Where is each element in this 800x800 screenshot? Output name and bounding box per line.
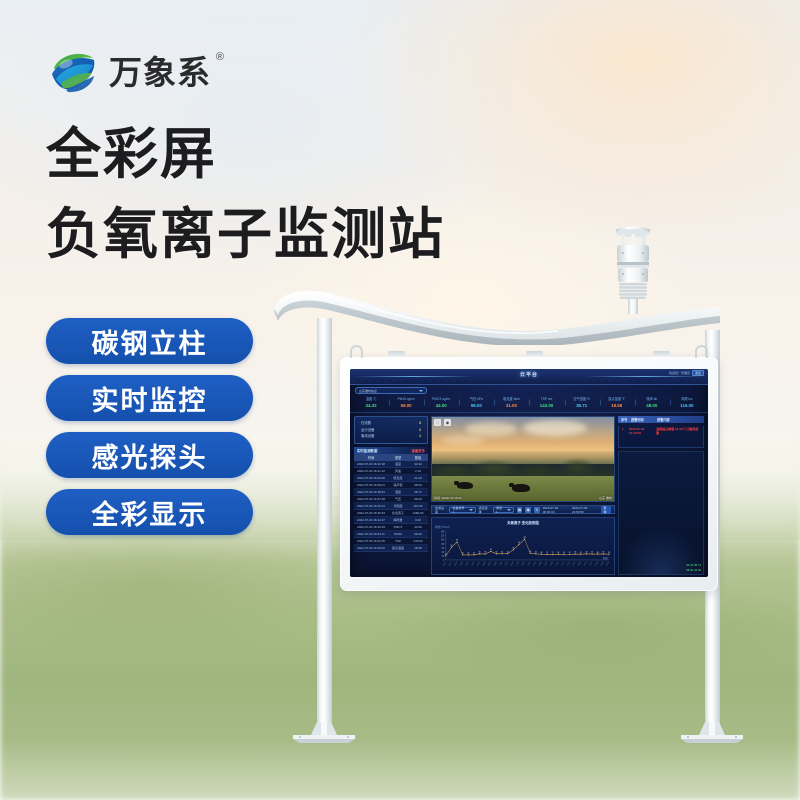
table-cell: 风速 xyxy=(388,469,408,473)
svg-text:07-12: 07-12 xyxy=(561,561,564,566)
svg-text:07-18: 07-18 xyxy=(595,561,598,566)
feature-badge: 感光探头 xyxy=(46,432,253,478)
svg-text:285: 285 xyxy=(580,552,582,554)
table-column-header: 类型 xyxy=(388,455,408,460)
table-cell: 2022-07-03 16:35:33 xyxy=(354,511,388,515)
brand-name-text: 万象系 xyxy=(109,54,211,91)
svg-text:300: 300 xyxy=(479,551,481,553)
svg-text:0: 0 xyxy=(443,560,444,562)
svg-text:300: 300 xyxy=(496,551,498,553)
table-cell: 能见度 xyxy=(388,476,408,480)
table-cell: 0.00 xyxy=(408,518,428,522)
table-cell: 2022-07-03 16:39:01 xyxy=(354,483,388,487)
metric-card: 噪声 db48.00 xyxy=(635,396,669,409)
svg-text:500: 500 xyxy=(512,547,514,549)
metric-card: PM10 ug/m³58.00 xyxy=(389,396,423,409)
table-cell: 58.00 xyxy=(408,532,428,536)
mount-tab-right xyxy=(653,351,670,357)
table-row: 2022-07-03 16:36:41光照度116.00 xyxy=(354,503,428,510)
metric-value: 18.58 xyxy=(600,402,634,409)
table-cell: 2022-07-03 16:32:11 xyxy=(354,532,388,536)
dashboard-screen: 云平台 欢迎您！管理员 退出 山东潍坊站点 温度 ℃34.32PM10 ug/m… xyxy=(350,369,708,577)
svg-text:06-25: 06-25 xyxy=(466,561,469,566)
table-cell: PM10 xyxy=(388,532,408,536)
center-column: ⛶ ◉ 时间: 2022/7/3 16:42 山东 潍坊 监测设备 设备编号 1… xyxy=(431,416,615,575)
svg-text:620: 620 xyxy=(451,545,453,547)
device-select-value: 设备编号 1 xyxy=(452,506,465,514)
display-monitor: 云平台 欢迎您！管理员 退出 山东潍坊站点 温度 ℃34.32PM10 ug/m… xyxy=(340,357,718,591)
metric-value: 38.71 xyxy=(565,402,599,409)
chevron-down-icon xyxy=(507,509,511,511)
realtime-data-title: 实时监测数据 xyxy=(357,448,377,453)
svg-text:07-10: 07-10 xyxy=(550,561,553,566)
alarm-content: 温度超过阈值 34.32℃ 已触发报警 xyxy=(656,427,700,435)
table-row: 2022-07-03 16:40:06能见度31.00 xyxy=(354,475,428,482)
metric-value: 48.00 xyxy=(635,402,669,409)
table-cell: 负氧离子 xyxy=(388,511,408,515)
pole-base-right xyxy=(679,722,745,744)
svg-text:250: 250 xyxy=(462,552,464,554)
fullscreen-icon[interactable]: ⛶ xyxy=(434,419,441,426)
realtime-data-title-bar: 实时监测数据 查看更多 xyxy=(354,447,428,454)
mini-readout-line: 58.00 44.00 xyxy=(686,568,701,572)
table-cell: 露点温度 xyxy=(388,546,408,550)
right-column: 序号报警时间报警内容 12022-07-03 15:12:08温度超过阈值 34… xyxy=(618,416,704,575)
svg-text:292: 292 xyxy=(591,551,593,553)
alarm-index: 1 xyxy=(622,427,627,435)
svg-text:07-11: 07-11 xyxy=(556,561,559,566)
registered-mark: ® xyxy=(216,52,225,63)
svg-text:06-28: 06-28 xyxy=(483,561,486,566)
feature-badge: 实时监控 xyxy=(46,375,253,421)
table-cell: 2022-07-03 16:41:12 xyxy=(354,469,388,473)
svg-text:07-16: 07-16 xyxy=(584,561,587,566)
metric-value: 116.00 xyxy=(670,402,704,409)
table-cell: 湿度 xyxy=(388,490,408,494)
metric-card: 气压 kPa98.00 xyxy=(459,396,493,409)
metrics-strip: 温度 ℃34.32PM10 ug/m³58.00PM2.5 ug/m³44.00… xyxy=(350,396,708,413)
trend-chart-panel: 负氧离子 变化趋势图 单位(个/cm³) 0200400600800100012… xyxy=(431,517,615,575)
table-cell: 2022-07-03 16:31:05 xyxy=(354,539,388,543)
svg-text:210: 210 xyxy=(445,553,447,555)
table-cell: 降雨量 xyxy=(388,518,408,522)
metric-value: 31.00 xyxy=(494,402,528,409)
svg-text:296: 296 xyxy=(602,551,604,553)
video-timestamp: 时间: 2022/7/3 16:42 xyxy=(434,496,462,500)
svg-text:07-20: 07-20 xyxy=(606,561,609,566)
alarm-list: 12022-07-03 15:12:08温度超过阈值 34.32℃ 已触发报警 xyxy=(618,426,704,448)
table-cell: 2022-07-03 16:42:18 xyxy=(354,462,388,466)
metric-card: PM2.5 ug/m³44.00 xyxy=(424,396,458,409)
mount-hook-right xyxy=(695,345,708,358)
table-cell: 143.00 xyxy=(408,539,428,543)
svg-text:07-05: 07-05 xyxy=(522,561,525,566)
svg-text:06-23: 06-23 xyxy=(454,561,457,566)
svg-text:07-03: 07-03 xyxy=(511,561,514,566)
svg-text:07-01: 07-01 xyxy=(499,561,502,566)
station-select-row: 山东潍坊站点 xyxy=(350,385,708,396)
support-pole-left xyxy=(317,318,332,726)
pole-base-left xyxy=(291,722,357,744)
svg-text:290: 290 xyxy=(574,552,576,554)
table-row: 2022-07-03 16:42:18温度34.32 xyxy=(354,461,428,468)
svg-text:06-29: 06-29 xyxy=(488,561,491,566)
table-cell: 44.00 xyxy=(408,525,428,529)
headline-line-2: 负氧离子监测站 xyxy=(46,207,445,262)
table-cell: 116.00 xyxy=(408,504,428,508)
brand-name: 万象系 ® xyxy=(109,56,211,89)
table-cell: TSP xyxy=(388,539,408,543)
table-cell: PM2.5 xyxy=(388,525,408,529)
dashboard-title: 云平台 xyxy=(350,371,708,378)
table-cell: 34.32 xyxy=(408,462,428,466)
date-end[interactable]: 2022-07-03 23:59:59 xyxy=(572,506,598,514)
svg-text:07-06: 07-06 xyxy=(528,561,531,566)
metric-value: 34.32 xyxy=(354,402,388,409)
video-cow xyxy=(512,484,530,492)
metric-card: 能见度 dkm31.00 xyxy=(494,396,528,409)
svg-text:268: 268 xyxy=(563,552,565,554)
table-cell: 光照度 xyxy=(388,504,408,508)
table-cell: 2022-07-03 16:33:19 xyxy=(354,525,388,529)
svg-text:07-07: 07-07 xyxy=(533,561,536,566)
dashboard-body: 在线数3运行设备2离线设备1 实时监测数据 查看更多 时间类型数值 2022-0… xyxy=(350,413,708,577)
svg-text:06-26: 06-26 xyxy=(471,561,474,566)
table-cell: 噪声值 xyxy=(388,483,408,487)
svg-text:800: 800 xyxy=(442,544,445,546)
svg-text:负氧离子: 负氧离子 xyxy=(603,555,609,560)
svg-text:07-02: 07-02 xyxy=(505,561,508,566)
svg-text:1400: 1400 xyxy=(441,531,445,533)
secondary-video-feed[interactable]: 34.32 38.71 58.00 44.00 xyxy=(618,451,704,575)
metric-value: 58.00 xyxy=(389,402,423,409)
device-stats-box: 在线数3运行设备2离线设备1 xyxy=(354,416,428,444)
metric-value: 143.00 xyxy=(529,402,563,409)
table-cell: 2022-07-03 16:38:54 xyxy=(354,490,388,494)
station-select[interactable]: 山东潍坊站点 xyxy=(355,387,427,394)
table-cell: 气压 xyxy=(388,497,408,501)
svg-text:310: 310 xyxy=(507,551,509,553)
table-cell: 温度 xyxy=(388,462,408,466)
metric-card: TSP um143.00 xyxy=(529,396,563,409)
realtime-data-header: 时间类型数值 xyxy=(354,454,428,461)
station-select-value: 山东潍坊站点 xyxy=(359,389,377,393)
table-cell: 38.71 xyxy=(408,490,428,494)
table-cell: 2022-07-03 16:34:27 xyxy=(354,518,388,522)
svg-text:255: 255 xyxy=(473,552,475,554)
metric-value: 44.00 xyxy=(424,402,458,409)
realtime-data-rows: 2022-07-03 16:42:18温度34.322022-07-03 16:… xyxy=(354,461,428,576)
bottom-fade xyxy=(0,740,800,800)
svg-text:274: 274 xyxy=(569,552,571,554)
logout-button[interactable]: 退出 xyxy=(692,370,704,376)
svg-text:07-15: 07-15 xyxy=(578,561,581,566)
feature-badge: 全彩显示 xyxy=(46,489,253,535)
device-stat-value: 1 xyxy=(419,433,421,440)
table-row: 2022-07-03 16:34:27降雨量0.00 xyxy=(354,517,428,524)
grid-view-icon[interactable]: ▦ xyxy=(517,507,523,513)
video-cloud xyxy=(465,422,517,436)
table-row: 2022-07-03 16:33:19PM2.544.00 xyxy=(354,524,428,531)
mini-readout-line: 34.32 38.71 xyxy=(686,563,701,567)
svg-text:06-24: 06-24 xyxy=(460,561,463,566)
chevron-down-icon xyxy=(469,509,473,511)
feature-badge-list: 碳钢立柱 实时监控 感光探头 全彩显示 xyxy=(46,318,253,535)
table-row: 2022-07-03 16:41:12风速2.10 xyxy=(354,468,428,475)
svg-text:330: 330 xyxy=(529,551,531,553)
table-cell: 2022-07-03 16:36:41 xyxy=(354,504,388,508)
svg-text:275: 275 xyxy=(546,552,548,554)
table-row: 2022-07-03 16:32:11PM1058.00 xyxy=(354,531,428,538)
svg-text:07-14: 07-14 xyxy=(573,561,576,566)
channel-select[interactable]: 通道 1 xyxy=(493,507,514,513)
table-cell: 2.10 xyxy=(408,469,428,473)
table-row: 2022-07-03 16:39:01噪声值48.00 xyxy=(354,482,428,489)
svg-text:760: 760 xyxy=(518,542,520,544)
snapshot-icon[interactable]: ◉ xyxy=(444,419,451,426)
svg-text:1200: 1200 xyxy=(441,535,445,537)
device-select-label: 监测设备 xyxy=(435,506,446,514)
dashboard-header: 云平台 欢迎您！管理员 退出 xyxy=(350,369,708,385)
header-account-area: 欢迎您！管理员 退出 xyxy=(669,370,704,376)
feature-badge: 碳钢立柱 xyxy=(46,318,253,364)
video-cow xyxy=(457,482,473,489)
svg-text:288: 288 xyxy=(597,552,599,554)
svg-text:280: 280 xyxy=(541,552,543,554)
trend-chart-svg: 0200400600800100012001400210620880250245… xyxy=(435,526,611,572)
table-row: 2022-07-03 16:35:33负氧离子1280.00 xyxy=(354,510,428,517)
metric-card: 露点温度 ℃18.58 xyxy=(600,396,634,409)
headline-line-1: 全彩屏 xyxy=(46,127,217,182)
svg-text:06-27: 06-27 xyxy=(477,561,480,566)
svg-text:07-04: 07-04 xyxy=(516,561,519,566)
svg-text:06-30: 06-30 xyxy=(494,561,497,566)
chart-ylabel: 单位(个/cm³) xyxy=(435,525,450,529)
svg-text:06-22: 06-22 xyxy=(449,561,452,566)
table-column-header: 数值 xyxy=(408,455,428,460)
left-column: 在线数3运行设备2离线设备1 实时监测数据 查看更多 时间类型数值 2022-0… xyxy=(354,416,428,575)
svg-text:07-17: 07-17 xyxy=(590,561,593,566)
realtime-data-panel: 实时监测数据 查看更多 时间类型数值 2022-07-03 16:42:18温度… xyxy=(354,447,428,576)
chevron-down-icon xyxy=(419,390,423,392)
svg-text:1020: 1020 xyxy=(523,537,526,539)
alarm-time: 2022-07-03 15:12:08 xyxy=(629,427,654,435)
camera-icon[interactable]: ▣ xyxy=(525,507,531,513)
svg-text:880: 880 xyxy=(456,540,458,542)
svg-text:270: 270 xyxy=(552,552,554,554)
svg-text:07-19: 07-19 xyxy=(601,561,604,566)
refresh-icon[interactable]: ↻ xyxy=(534,507,540,513)
video-tool-buttons[interactable]: ⛶ ◉ xyxy=(434,419,451,426)
account-label: 欢迎您！管理员 xyxy=(669,371,690,375)
svg-text:200: 200 xyxy=(442,556,445,558)
video-scene xyxy=(432,417,614,501)
svg-text:300: 300 xyxy=(586,551,588,553)
device-select[interactable]: 设备编号 1 xyxy=(449,507,475,513)
table-cell: 2022-07-03 16:37:48 xyxy=(354,497,388,501)
device-stat-row: 离线设备1 xyxy=(361,433,421,440)
alarm-column-header: 报警内容 xyxy=(657,417,670,422)
svg-text:600: 600 xyxy=(442,548,445,550)
table-cell: 2022-07-03 16:30:02 xyxy=(354,546,388,550)
ultrasonic-weather-sensor-icon xyxy=(600,222,666,314)
globe-sphere-icon xyxy=(48,46,100,98)
svg-text:07-09: 07-09 xyxy=(545,561,548,566)
brand-logo: 万象系 ® xyxy=(48,46,211,98)
table-cell: 31.00 xyxy=(408,476,428,480)
mount-tab-left xyxy=(388,351,405,357)
date-start[interactable]: 2022-07-03 00:00:00 xyxy=(543,506,569,514)
alarm-panel-header: 序号报警时间报警内容 xyxy=(618,416,704,423)
video-control-bar: 监测设备 设备编号 1 通道选择 通道 1 ▦ ▣ ↻ 20 xyxy=(431,505,615,514)
svg-text:280: 280 xyxy=(608,552,610,554)
view-more-link[interactable]: 查看更多 xyxy=(411,448,425,453)
table-cell: 48.00 xyxy=(408,483,428,487)
metric-card: 风照 lux116.00 xyxy=(670,396,704,409)
table-row: 2022-07-03 16:30:02露点温度18.58 xyxy=(354,545,428,552)
svg-text:07-08: 07-08 xyxy=(539,561,542,566)
query-button[interactable]: 查询 xyxy=(601,506,611,514)
video-cloud xyxy=(523,420,587,436)
mount-hook-left xyxy=(350,345,363,358)
mini-readout: 34.32 38.71 58.00 44.00 xyxy=(686,563,701,572)
table-row: 2022-07-03 16:37:48气压98.00 xyxy=(354,496,428,503)
metric-value: 98.00 xyxy=(459,402,493,409)
device-stat-label: 离线设备 xyxy=(361,433,375,440)
alarm-column-header: 报警时间 xyxy=(631,417,655,422)
table-cell: 2022-07-03 16:40:06 xyxy=(354,476,388,480)
table-cell: 1280.00 xyxy=(408,511,428,515)
metric-card: 温度 ℃34.32 xyxy=(354,396,388,409)
svg-text:1000: 1000 xyxy=(441,540,445,542)
table-cell: 18.58 xyxy=(408,546,428,550)
svg-text:300: 300 xyxy=(535,551,537,553)
product-marketing-banner: 万象系 ® 全彩屏 负氧离子监测站 碳钢立柱 实时监控 感光探头 全彩显示 xyxy=(0,0,800,800)
table-row: 2022-07-03 16:38:54湿度38.71 xyxy=(354,489,428,496)
svg-text:420: 420 xyxy=(490,549,492,551)
metric-card: 空气湿度 %38.71 xyxy=(565,396,599,409)
video-location: 山东 潍坊 xyxy=(599,496,612,500)
table-row: 2022-07-03 16:31:05TSP143.00 xyxy=(354,538,428,545)
alarm-column-header: 序号 xyxy=(621,417,629,422)
svg-text:07-13: 07-13 xyxy=(567,561,570,566)
channel-select-label: 通道选择 xyxy=(479,506,490,514)
table-cell: 98.00 xyxy=(408,497,428,501)
chart-plot-area: 单位(个/cm³) 020040060080010001200140021062… xyxy=(435,526,611,572)
mount-tab-center xyxy=(526,351,543,357)
svg-text:282: 282 xyxy=(557,552,559,554)
alarm-row: 12022-07-03 15:12:08温度超过阈值 34.32℃ 已触发报警 xyxy=(619,426,703,436)
channel-select-value: 通道 1 xyxy=(496,506,504,514)
svg-text:245: 245 xyxy=(467,552,469,554)
table-column-header: 时间 xyxy=(354,455,388,460)
svg-text:305: 305 xyxy=(501,551,503,553)
svg-text:290: 290 xyxy=(484,552,486,554)
live-video-feed[interactable]: ⛶ ◉ 时间: 2022/7/3 16:42 山东 潍坊 xyxy=(431,416,615,502)
